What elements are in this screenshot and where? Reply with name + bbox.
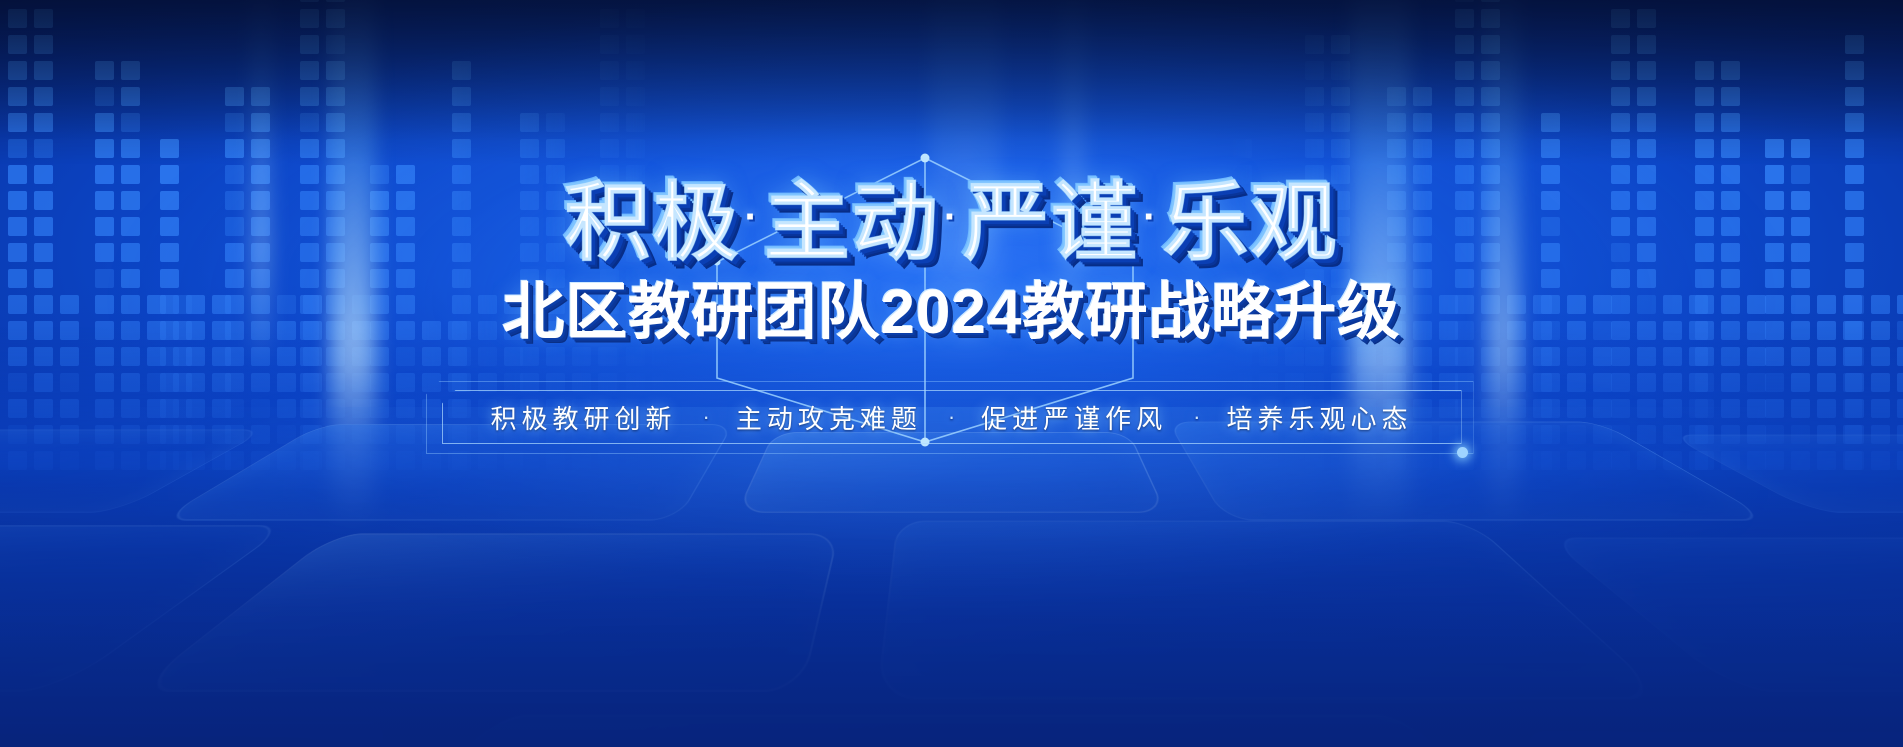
accent-dot-icon	[1457, 447, 1468, 458]
tagline-item-2: 主动攻克难题	[736, 399, 922, 436]
tagline-item-4: 培养乐观心态	[1227, 399, 1413, 436]
tagline-text: 积极教研创新 · 主动攻克难题 · 促进严谨作风 · 培养乐观心态	[442, 390, 1462, 444]
tagline-separator-icon: ·	[702, 404, 709, 430]
tagline-item-3: 促进严谨作风	[981, 399, 1167, 436]
tagline-frame: 积极教研创新 · 主动攻克难题 · 促进严谨作风 · 培养乐观心态	[442, 390, 1462, 444]
tagline-item-1: 积极教研创新	[490, 399, 676, 436]
page-subtitle: 北区教研团队2024教研战略升级	[503, 282, 1401, 344]
tagline-separator-icon: ·	[1193, 404, 1200, 430]
title-word-2: 主动	[764, 175, 940, 271]
title-separator-icon: ·	[944, 197, 959, 237]
page-title: 积极·主动·严谨·乐观	[565, 180, 1339, 266]
tagline-separator-icon: ·	[948, 404, 955, 430]
title-separator-icon: ·	[1143, 197, 1158, 237]
banner-content: 积极·主动·严谨·乐观 北区教研团队2024教研战略升级 积极教研创新 · 主动…	[0, 0, 1903, 747]
title-separator-icon: ·	[745, 197, 760, 237]
title-word-1: 积极	[565, 175, 741, 271]
title-word-4: 乐观	[1162, 175, 1338, 271]
title-word-3: 严谨	[963, 175, 1139, 271]
banner-canvas: 积极·主动·严谨·乐观 北区教研团队2024教研战略升级 积极教研创新 · 主动…	[0, 0, 1903, 747]
